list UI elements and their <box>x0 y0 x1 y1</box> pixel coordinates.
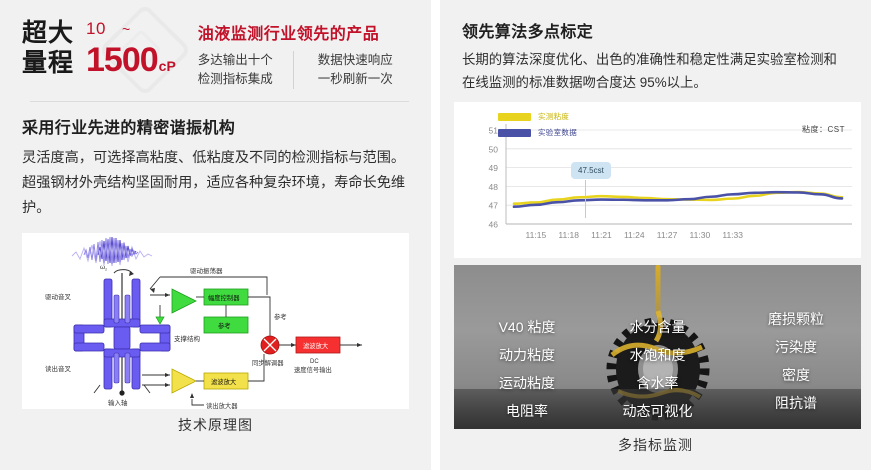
index-column-wear: 磨损颗粒 污染度 密度 阻抗谱 <box>745 305 847 417</box>
index-label: 动态可视化 <box>598 397 718 425</box>
svg-text:51: 51 <box>489 126 499 136</box>
left-section-title: 采用行业先进的精密谐振机构 <box>22 114 409 138</box>
right-section-paragraph: 长期的算法深度优化、出色的准确性和稳定性满足实验室检测和在线监测的标准数据吻合度… <box>462 48 849 94</box>
omega-label: ωz <box>100 264 107 272</box>
svg-text:50: 50 <box>489 144 499 154</box>
left-section-paragraph: 灵活度高，可选择高粘度、低粘度及不同的检测指标与范围。超强钢材外壳结构坚固耐用，… <box>22 146 409 221</box>
index-label: 密度 <box>745 361 847 389</box>
chart-annotation-stem <box>585 180 586 218</box>
viscosity-chart-card: 实测粘度 实验室数据 粘度：CST 47.5cst 46474849505111… <box>454 102 861 258</box>
filter-amplifier-label: 滤波放大 <box>303 341 329 350</box>
legend-swatch-lab <box>498 129 531 137</box>
range-values: 10 ~ 1500 cP <box>86 19 176 77</box>
feature-2-line1: 数据快速响应 <box>318 51 393 70</box>
dc-output-line1: DC <box>310 359 319 365</box>
waveform-icon <box>72 237 152 266</box>
svg-text:47: 47 <box>489 201 499 211</box>
index-label: 阻抗谱 <box>745 389 847 417</box>
right-section: 领先算法多点标定 长期的算法深度优化、出色的准确性和稳定性满足实验室检测和在线监… <box>440 0 871 94</box>
index-label: 含水率 <box>598 369 718 397</box>
range-min: 10 <box>86 19 106 39</box>
hero-block: 超大 量程 10 ~ 1500 cP 油液监测行业领 <box>0 0 431 89</box>
index-column-viscosity: V40 粘度 动力粘度 运动粘度 电阻率 <box>472 313 582 425</box>
index-column-water: 水分含量 水饱和度 含水率 动态可视化 <box>598 313 718 425</box>
svg-text:49: 49 <box>489 163 499 173</box>
range-max: 1500 <box>86 43 158 77</box>
readout-fork-label: 读出音叉 <box>45 364 72 373</box>
dc-output-line2: 速度信号输出 <box>294 365 332 374</box>
feature-1-line1: 多达输出十个 <box>198 51 273 70</box>
drive-fork-label: 驱动音叉 <box>45 292 72 301</box>
support-structure <box>74 325 170 351</box>
index-label: 运动粘度 <box>472 369 582 397</box>
reference-box-label: 参考 <box>218 321 231 330</box>
amplitude-controller-label: 幅度控制器 <box>208 293 240 302</box>
right-panel: 领先算法多点标定 长期的算法深度优化、出色的准确性和稳定性满足实验室检测和在线监… <box>440 0 871 470</box>
readout-amplifier-icon <box>172 369 196 393</box>
drive-oscillator-label: 驱动振荡器 <box>190 266 223 275</box>
svg-text:11:21: 11:21 <box>591 230 612 240</box>
svg-text:11:27: 11:27 <box>657 230 678 240</box>
hero-headline: 油液监测行业领先的产品 <box>198 20 393 44</box>
index-label: 电阻率 <box>472 397 582 425</box>
left-caption: 技术原理图 <box>0 415 431 435</box>
legend-label-lab: 实验室数据 <box>538 127 577 138</box>
drive-amplifier-icon <box>172 289 196 313</box>
svg-text:46: 46 <box>489 220 499 230</box>
svg-text:11:18: 11:18 <box>558 230 579 240</box>
reference-line-label: 参考 <box>274 312 287 321</box>
index-label: 磨损颗粒 <box>745 305 847 333</box>
feature-2-line2: 一秒刷新一次 <box>318 70 393 89</box>
index-label: 水饱和度 <box>598 341 718 369</box>
range-tilde: ~ <box>122 21 130 37</box>
range-unit: cP <box>159 58 176 74</box>
readout-filter-label: 滤波放大 <box>211 377 237 386</box>
svg-text:11:33: 11:33 <box>722 230 743 240</box>
index-label: 动力粘度 <box>472 341 582 369</box>
support-structure-label: 支撑结构 <box>174 334 201 343</box>
chart-unit-note: 粘度：CST <box>802 124 845 135</box>
left-panel: 超大 量程 10 ~ 1500 cP 油液监测行业领 <box>0 0 431 470</box>
legend-label-measured: 实测粘度 <box>538 111 569 122</box>
feature-1-line2: 检测指标集成 <box>198 70 273 89</box>
svg-text:11:30: 11:30 <box>690 230 711 240</box>
feature-item-1: 多达输出十个 检测指标集成 <box>198 51 273 89</box>
svg-text:11:24: 11:24 <box>624 230 645 240</box>
chart-legend: 实测粘度 实验室数据 <box>498 110 577 142</box>
promo-page: 超大 量程 10 ~ 1500 cP 油液监测行业领 <box>0 0 871 470</box>
tuning-fork-schematic-svg: ωz 驱动音叉 <box>22 233 409 409</box>
legend-swatch-measured <box>498 113 531 121</box>
left-section: 采用行业先进的精密谐振机构 灵活度高，可选择高粘度、低粘度及不同的检测指标与范围… <box>0 102 431 221</box>
hero-big-line1: 超大 <box>22 18 74 48</box>
feature-item-2: 数据快速响应 一秒刷新一次 <box>293 51 393 89</box>
right-caption: 多指标监测 <box>440 435 871 455</box>
technical-diagram: ωz 驱动音叉 <box>22 233 409 409</box>
range-headline: 超大 量程 10 ~ 1500 cP <box>22 18 176 78</box>
legend-item-lab: 实验室数据 <box>498 126 577 139</box>
legend-item-measured: 实测粘度 <box>498 110 577 123</box>
svg-text:48: 48 <box>489 182 499 192</box>
input-shaft-label: 输入轴 <box>108 398 128 407</box>
index-label: 污染度 <box>745 333 847 361</box>
svg-text:11:15: 11:15 <box>526 230 547 240</box>
right-section-title: 领先算法多点标定 <box>462 18 849 42</box>
multi-index-photo: V40 粘度 动力粘度 运动粘度 电阻率 水分含量 水饱和度 含水率 动态可视化… <box>454 265 861 429</box>
index-label: 水分含量 <box>598 313 718 341</box>
readout-amplifier-label: 读出放大器 <box>206 401 238 409</box>
hero-big-line2: 量程 <box>22 48 74 78</box>
hero-features: 油液监测行业领先的产品 多达输出十个 检测指标集成 数据快速响应 一秒刷新一次 <box>198 18 393 89</box>
chart-annotation-tooltip: 47.5cst <box>571 162 611 179</box>
sync-demodulator-label: 同步解调器 <box>252 358 284 367</box>
index-label: V40 粘度 <box>472 313 582 341</box>
panel-gutter <box>431 0 440 470</box>
